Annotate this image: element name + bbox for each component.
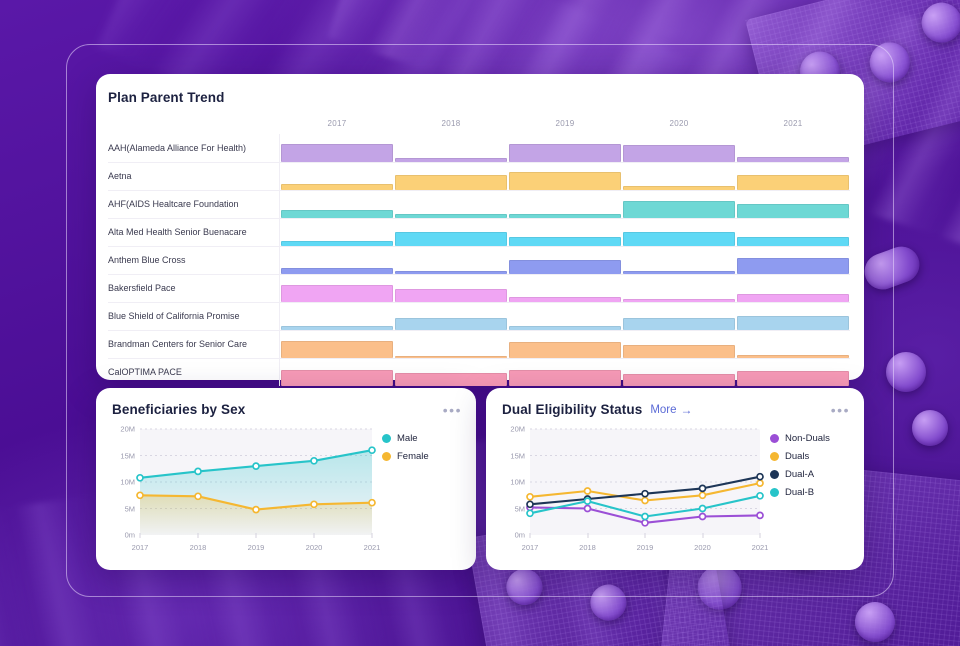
trend-bar[interactable] bbox=[623, 186, 735, 190]
trend-row-label: Alta Med Health Senior Buenacare bbox=[108, 219, 280, 246]
plan-parent-trend-card: Plan Parent Trend 2017 2018 2019 2020 20… bbox=[96, 74, 864, 380]
trend-bar-cell[interactable] bbox=[736, 359, 850, 386]
legend-item[interactable]: Female bbox=[382, 451, 462, 462]
beneficiaries-plot: 0m5M10M15M20M20172018201920202021 bbox=[112, 423, 376, 557]
trend-bar[interactable] bbox=[281, 210, 393, 218]
legend-dot-icon bbox=[770, 452, 779, 461]
data-point[interactable] bbox=[253, 507, 259, 513]
trend-row-label: Anthem Blue Cross bbox=[108, 247, 280, 274]
legend-item[interactable]: Non-Duals bbox=[770, 433, 850, 444]
trend-bar[interactable] bbox=[395, 214, 507, 218]
trend-row-label: Brandman Centers for Senior Care bbox=[108, 331, 280, 358]
trend-bar[interactable] bbox=[623, 374, 735, 386]
trend-bar[interactable] bbox=[281, 241, 393, 246]
table-row: Aetna bbox=[108, 162, 850, 190]
trend-bar[interactable] bbox=[737, 237, 849, 246]
x-axis-tick-mark bbox=[140, 533, 141, 538]
x-axis-tick-mark bbox=[587, 533, 588, 538]
trend-bar[interactable] bbox=[281, 184, 393, 190]
trend-bar[interactable] bbox=[395, 318, 507, 330]
trend-bar-cell[interactable] bbox=[394, 219, 508, 246]
dual-plot: 0m5M10M15M20M20172018201920202021 bbox=[502, 423, 764, 557]
beneficiaries-chart-title: Beneficiaries by Sex bbox=[112, 402, 245, 417]
x-axis-tick-mark bbox=[645, 533, 646, 538]
trend-bar[interactable] bbox=[281, 268, 393, 274]
data-point[interactable] bbox=[369, 500, 375, 506]
trend-bar-cell[interactable] bbox=[508, 275, 622, 302]
data-point[interactable] bbox=[311, 501, 317, 507]
trend-row-label: AHF(AIDS Healtcare Foundation bbox=[108, 191, 280, 218]
trend-bar-cell[interactable] bbox=[622, 191, 736, 218]
beneficiaries-chart-body: 0m5M10M15M20M20172018201920202021 MaleFe… bbox=[112, 423, 462, 557]
x-axis-tick-label: 2020 bbox=[694, 543, 711, 552]
legend-dot-icon bbox=[382, 434, 391, 443]
x-axis-tick-mark bbox=[198, 533, 199, 538]
trend-bar[interactable] bbox=[509, 214, 621, 218]
more-options-icon[interactable]: ••• bbox=[831, 406, 850, 414]
legend-label: Male bbox=[397, 433, 418, 444]
trend-bar[interactable] bbox=[395, 175, 507, 190]
more-options-icon[interactable]: ••• bbox=[443, 406, 462, 414]
trend-bar[interactable] bbox=[281, 285, 393, 302]
trend-bar[interactable] bbox=[623, 318, 735, 330]
x-axis-tick-label: 2019 bbox=[248, 543, 265, 552]
x-axis-tick-mark bbox=[256, 533, 257, 538]
trend-bar-cell[interactable] bbox=[508, 191, 622, 218]
trend-row-bars bbox=[280, 191, 850, 218]
trend-bar-cell[interactable] bbox=[622, 163, 736, 190]
page-title: Plan Parent Trend bbox=[108, 90, 850, 105]
data-point[interactable] bbox=[137, 492, 143, 498]
data-point[interactable] bbox=[195, 493, 201, 499]
year-header-2019: 2019 bbox=[508, 119, 622, 128]
trend-bar[interactable] bbox=[509, 260, 621, 274]
table-row: Anthem Blue Cross bbox=[108, 246, 850, 274]
trend-row-bars bbox=[280, 219, 850, 246]
data-point[interactable] bbox=[585, 498, 591, 504]
beneficiaries-legend: MaleFemale bbox=[376, 423, 462, 557]
data-point[interactable] bbox=[700, 514, 706, 520]
legend-item[interactable]: Duals bbox=[770, 451, 850, 462]
trend-bar-cell[interactable] bbox=[736, 303, 850, 330]
trend-bar-cell[interactable] bbox=[394, 359, 508, 386]
data-point[interactable] bbox=[700, 485, 706, 491]
trend-bar-cell[interactable] bbox=[508, 219, 622, 246]
beneficiaries-chart-header: Beneficiaries by Sex ••• bbox=[112, 402, 462, 417]
trend-bar-cell[interactable] bbox=[280, 191, 394, 218]
trend-bar-cell[interactable] bbox=[736, 247, 850, 274]
trend-row-label: CalOPTIMA PACE bbox=[108, 359, 280, 386]
trend-bar[interactable] bbox=[395, 373, 507, 386]
dual-legend: Non-DualsDualsDual-ADual-B bbox=[764, 423, 850, 557]
table-row: CalOPTIMA PACE bbox=[108, 358, 850, 386]
data-point[interactable] bbox=[757, 512, 763, 518]
trend-row-bars bbox=[280, 134, 850, 162]
trend-bar[interactable] bbox=[623, 145, 735, 162]
trend-bar-cell[interactable] bbox=[394, 275, 508, 302]
x-axis-tick-mark bbox=[702, 533, 703, 538]
trend-row-label: Aetna bbox=[108, 163, 280, 190]
trend-bar[interactable] bbox=[395, 356, 507, 358]
trend-bar-cell[interactable] bbox=[508, 247, 622, 274]
trend-bar-cell[interactable] bbox=[508, 134, 622, 162]
data-point[interactable] bbox=[642, 498, 648, 504]
x-axis: 20172018201920202021 bbox=[140, 537, 372, 557]
table-row: Blue Shield of California Promise bbox=[108, 302, 850, 330]
trend-bar-cell[interactable] bbox=[736, 134, 850, 162]
data-point[interactable] bbox=[527, 494, 533, 500]
trend-bar-cell[interactable] bbox=[280, 163, 394, 190]
data-point[interactable] bbox=[700, 492, 706, 498]
x-axis-tick-label: 2020 bbox=[306, 543, 323, 552]
trend-bar-cell[interactable] bbox=[394, 163, 508, 190]
pill-loose-1 bbox=[886, 352, 926, 392]
legend-label: Female bbox=[397, 451, 429, 462]
trend-bar-cell[interactable] bbox=[508, 163, 622, 190]
trend-bar-cell[interactable] bbox=[394, 303, 508, 330]
trend-bar-cell[interactable] bbox=[736, 163, 850, 190]
data-point[interactable] bbox=[757, 480, 763, 486]
trend-bar[interactable] bbox=[281, 326, 393, 330]
trend-bar[interactable] bbox=[509, 144, 621, 162]
x-axis-tick-mark bbox=[760, 533, 761, 538]
trend-bar[interactable] bbox=[509, 370, 621, 386]
trend-bar-cell[interactable] bbox=[394, 134, 508, 162]
data-point[interactable] bbox=[585, 506, 591, 512]
table-row: AHF(AIDS Healtcare Foundation bbox=[108, 190, 850, 218]
trend-bar[interactable] bbox=[623, 271, 735, 274]
legend-item[interactable]: Male bbox=[382, 433, 462, 444]
data-point[interactable] bbox=[195, 468, 201, 474]
trend-bar[interactable] bbox=[395, 289, 507, 302]
trend-bar[interactable] bbox=[509, 326, 621, 330]
data-point[interactable] bbox=[253, 463, 259, 469]
trend-bar-cell[interactable] bbox=[508, 359, 622, 386]
trend-bar-cell[interactable] bbox=[736, 219, 850, 246]
year-header-2017: 2017 bbox=[280, 119, 394, 128]
arrow-right-icon: → bbox=[681, 404, 693, 416]
trend-bar[interactable] bbox=[623, 201, 735, 218]
trend-bar[interactable] bbox=[509, 297, 621, 302]
year-header-2021: 2021 bbox=[736, 119, 850, 128]
trend-row-label: Blue Shield of California Promise bbox=[108, 303, 280, 330]
legend-dot-icon bbox=[382, 452, 391, 461]
trend-bar-cell[interactable] bbox=[280, 134, 394, 162]
trend-bar-cell[interactable] bbox=[736, 275, 850, 302]
x-axis-tick-mark bbox=[530, 533, 531, 538]
trend-bar-cell[interactable] bbox=[622, 331, 736, 358]
trend-bar-cell[interactable] bbox=[508, 303, 622, 330]
more-link-label: More bbox=[650, 404, 676, 416]
dual-chart-body: 0m5M10M15M20M20172018201920202021 Non-Du… bbox=[502, 423, 850, 557]
trend-bar-cell[interactable] bbox=[622, 134, 736, 162]
trend-bar-cell[interactable] bbox=[280, 247, 394, 274]
trend-bar[interactable] bbox=[737, 294, 849, 302]
trend-row-label: Bakersfield Pace bbox=[108, 275, 280, 302]
trend-row-bars bbox=[280, 275, 850, 302]
trend-bar-cell[interactable] bbox=[622, 359, 736, 386]
legend-dot-icon bbox=[770, 470, 779, 479]
legend-label: Duals bbox=[785, 451, 809, 462]
table-row: Brandman Centers for Senior Care bbox=[108, 330, 850, 358]
legend-dot-icon bbox=[770, 434, 779, 443]
data-point[interactable] bbox=[311, 458, 317, 464]
trend-bar[interactable] bbox=[509, 237, 621, 246]
trend-bar-cell[interactable] bbox=[622, 275, 736, 302]
trend-bar[interactable] bbox=[737, 371, 849, 386]
trend-bar-cell[interactable] bbox=[736, 331, 850, 358]
trend-bar-cell[interactable] bbox=[280, 331, 394, 358]
data-point[interactable] bbox=[757, 474, 763, 480]
trend-row-bars bbox=[280, 303, 850, 330]
year-header-2018: 2018 bbox=[394, 119, 508, 128]
dual-chart-title: Dual Eligibility Status bbox=[502, 402, 642, 417]
year-header-2020: 2020 bbox=[622, 119, 736, 128]
x-axis-tick-label: 2018 bbox=[190, 543, 207, 552]
trend-bar-cell[interactable] bbox=[280, 303, 394, 330]
trend-bar[interactable] bbox=[281, 341, 393, 358]
legend-item[interactable]: Dual-B bbox=[770, 487, 850, 498]
data-point[interactable] bbox=[137, 475, 143, 481]
trend-row-bars bbox=[280, 247, 850, 274]
data-point[interactable] bbox=[642, 491, 648, 497]
data-point[interactable] bbox=[757, 493, 763, 499]
x-axis-tick-mark bbox=[372, 533, 373, 538]
data-point[interactable] bbox=[642, 514, 648, 520]
x-axis-tick-label: 2017 bbox=[132, 543, 149, 552]
trend-bar[interactable] bbox=[623, 345, 735, 358]
trend-bar-cell[interactable] bbox=[736, 191, 850, 218]
data-point[interactable] bbox=[527, 510, 533, 516]
trend-bar[interactable] bbox=[281, 144, 393, 162]
data-point[interactable] bbox=[369, 447, 375, 453]
trend-bar[interactable] bbox=[509, 342, 621, 358]
trend-bar[interactable] bbox=[395, 271, 507, 274]
trend-bar[interactable] bbox=[737, 355, 849, 358]
pill-loose-4 bbox=[912, 410, 948, 446]
data-point[interactable] bbox=[642, 520, 648, 526]
trend-bar[interactable] bbox=[737, 157, 849, 162]
data-point[interactable] bbox=[700, 506, 706, 512]
x-axis-tick-mark bbox=[314, 533, 315, 538]
trend-bar-cell[interactable] bbox=[508, 331, 622, 358]
trend-bar[interactable] bbox=[509, 172, 621, 190]
trend-bar-cell[interactable] bbox=[280, 359, 394, 386]
trend-bar[interactable] bbox=[395, 232, 507, 246]
table-row: Bakersfield Pace bbox=[108, 274, 850, 302]
trend-row-bars bbox=[280, 359, 850, 386]
legend-item[interactable]: Dual-A bbox=[770, 469, 850, 480]
trend-bar-cell[interactable] bbox=[622, 303, 736, 330]
x-axis-tick-label: 2021 bbox=[752, 543, 769, 552]
data-point[interactable] bbox=[527, 501, 533, 507]
trend-row-label: AAH(Alameda Alliance For Health) bbox=[108, 134, 280, 162]
legend-label: Non-Duals bbox=[785, 433, 830, 444]
trend-bar[interactable] bbox=[623, 299, 735, 302]
x-axis-tick-label: 2017 bbox=[522, 543, 539, 552]
legend-label: Dual-A bbox=[785, 469, 814, 480]
legend-label: Dual-B bbox=[785, 487, 814, 498]
legend-dot-icon bbox=[770, 488, 779, 497]
trend-row-bars bbox=[280, 163, 850, 190]
trend-bar[interactable] bbox=[623, 232, 735, 246]
table-row: AAH(Alameda Alliance For Health) bbox=[108, 134, 850, 162]
trend-year-header: 2017 2018 2019 2020 2021 bbox=[108, 119, 850, 128]
x-axis-tick-label: 2019 bbox=[637, 543, 654, 552]
trend-bar-cell[interactable] bbox=[394, 247, 508, 274]
trend-bar[interactable] bbox=[737, 204, 849, 218]
dual-eligibility-status-card: Dual Eligibility Status More → ••• 0m5M1… bbox=[486, 388, 864, 570]
x-axis-tick-label: 2021 bbox=[364, 543, 381, 552]
trend-bar[interactable] bbox=[281, 370, 393, 386]
more-link[interactable]: More → bbox=[650, 404, 692, 416]
trend-bar-cell[interactable] bbox=[394, 191, 508, 218]
table-row: Alta Med Health Senior Buenacare bbox=[108, 218, 850, 246]
trend-bar-cell[interactable] bbox=[622, 247, 736, 274]
trend-bar-cell[interactable] bbox=[622, 219, 736, 246]
x-axis: 20172018201920202021 bbox=[530, 537, 760, 557]
trend-rows: AAH(Alameda Alliance For Health)AetnaAHF… bbox=[108, 134, 850, 386]
trend-bar[interactable] bbox=[737, 175, 849, 190]
beneficiaries-by-sex-card: Beneficiaries by Sex ••• 0m5M10M15M20M20… bbox=[96, 388, 476, 570]
x-axis-tick-label: 2018 bbox=[579, 543, 596, 552]
trend-bar[interactable] bbox=[737, 258, 849, 274]
trend-bar-cell[interactable] bbox=[394, 331, 508, 358]
trend-bar[interactable] bbox=[395, 158, 507, 162]
trend-bar-cell[interactable] bbox=[280, 275, 394, 302]
trend-bar[interactable] bbox=[737, 316, 849, 330]
dual-chart-header: Dual Eligibility Status More → ••• bbox=[502, 402, 850, 417]
trend-row-bars bbox=[280, 331, 850, 358]
data-point[interactable] bbox=[585, 488, 591, 494]
trend-bar-cell[interactable] bbox=[280, 219, 394, 246]
